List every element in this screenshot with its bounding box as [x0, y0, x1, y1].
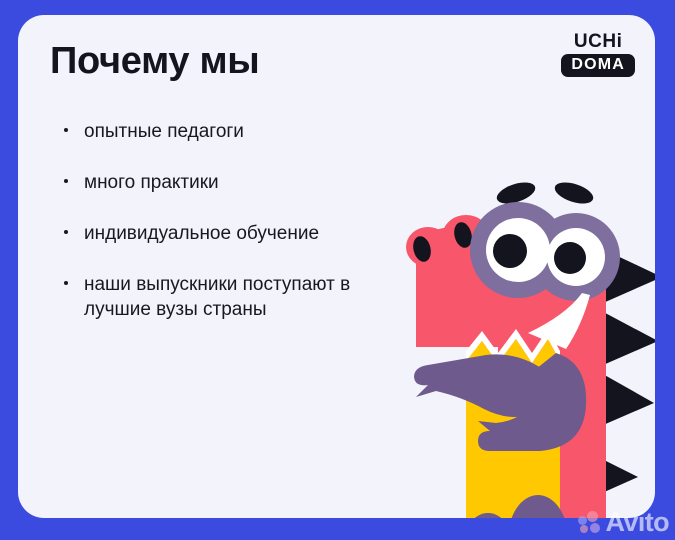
- list-item: индивидуальное обучение: [58, 221, 358, 246]
- logo-wordmark: UCHi: [574, 32, 622, 51]
- list-item: опытные педагоги: [58, 119, 358, 144]
- bullet-dot-icon: [64, 128, 68, 132]
- avito-logo-icon: [578, 511, 602, 535]
- content-card: Почему мы UCHi DOMA опытные педагоги мно…: [18, 15, 655, 518]
- avito-watermark: Avito: [578, 509, 670, 536]
- brand-logo: UCHi DOMA: [561, 32, 635, 77]
- list-item-label: опытные педагоги: [84, 121, 244, 142]
- bullet-dot-icon: [64, 179, 68, 183]
- bullet-dot-icon: [64, 230, 68, 234]
- list-item: наши выпускники поступают в лучшие вузы …: [58, 272, 358, 322]
- benefits-list: опытные педагоги много практики индивиду…: [58, 119, 358, 322]
- logo-badge: DOMA: [561, 54, 635, 77]
- list-item-label: много практики: [84, 172, 219, 193]
- avito-wordmark: Avito: [606, 509, 670, 536]
- list-item: много практики: [58, 170, 358, 195]
- bullet-dot-icon: [64, 281, 68, 285]
- slide-canvas: Почему мы UCHi DOMA опытные педагоги мно…: [0, 0, 675, 540]
- page-title: Почему мы: [50, 41, 259, 83]
- list-item-label: индивидуальное обучение: [84, 223, 319, 244]
- list-item-label: наши выпускники поступают в лучшие вузы …: [84, 274, 350, 320]
- dinosaur-mascot-illustration: [370, 165, 655, 518]
